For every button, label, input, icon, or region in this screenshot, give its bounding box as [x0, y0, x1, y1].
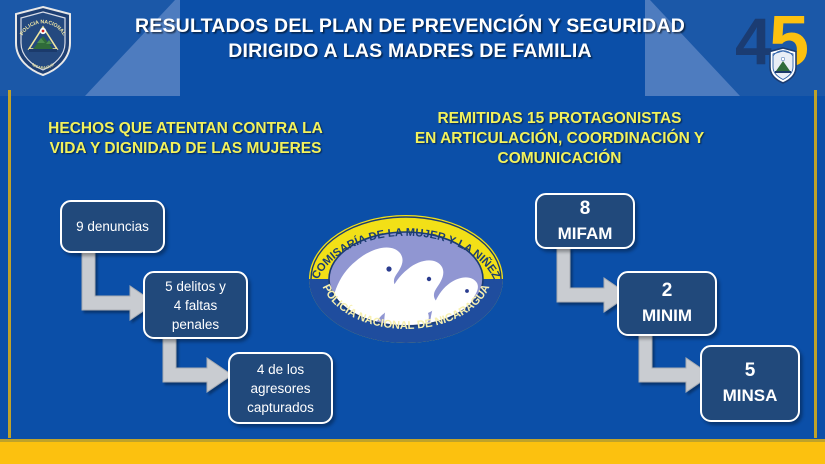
right-heading-line-3: COMUNICACIÓN	[392, 149, 727, 169]
flow-box-delitos-line-1: 5 delitos y	[165, 277, 226, 296]
flow-box-delitos-line-3: penales	[172, 315, 219, 334]
flow-box-minsa-number: 5	[745, 358, 756, 383]
flow-box-delitos-faltas[interactable]: 5 delitos y 4 faltas penales	[143, 271, 248, 339]
flow-box-agresores-line-2: agresores	[250, 379, 310, 398]
arrow-left-2	[157, 338, 232, 392]
flow-box-denuncias-line-1: 9 denuncias	[76, 217, 149, 236]
anniversary-45-logo-icon: 4 5	[733, 2, 817, 90]
flow-box-minim-org: MINIM	[642, 303, 692, 329]
flow-box-agresores-capturados[interactable]: 4 de los agresores capturados	[228, 352, 333, 424]
right-section-heading: REMITIDAS 15 PROTAGONISTAS EN ARTICULACI…	[392, 109, 727, 169]
slide-canvas: RESULTADOS DEL PLAN DE PREVENCIÓN Y SEGU…	[0, 0, 825, 464]
flow-box-mifam-number: 8	[580, 196, 591, 221]
right-heading-line-2: EN ARTICULACIÓN, COORDINACIÓN Y	[392, 129, 727, 149]
page-title: RESULTADOS DEL PLAN DE PREVENCIÓN Y SEGU…	[95, 14, 725, 64]
title-line-1: RESULTADOS DEL PLAN DE PREVENCIÓN Y SEGU…	[95, 14, 725, 39]
frame-rule-left	[8, 90, 11, 438]
left-heading-line-1: HECHOS QUE ATENTAN CONTRA LA	[18, 119, 353, 139]
flow-box-denuncias[interactable]: 9 denuncias	[60, 200, 165, 253]
svg-text:4: 4	[735, 4, 772, 78]
right-heading-line-1: REMITIDAS 15 PROTAGONISTAS	[392, 109, 727, 129]
left-heading-line-2: VIDA Y DIGNIDAD DE LAS MUJERES	[18, 139, 353, 159]
flow-box-agresores-line-1: 4 de los	[257, 360, 304, 379]
flow-box-minsa-org: MINSA	[723, 383, 778, 409]
flow-box-mifam-org: MIFAM	[558, 221, 613, 247]
comisaria-seal-icon: COMISARÍA DE LA MUJER Y LA NIÑEZ POLICÍA…	[300, 213, 512, 345]
flow-box-delitos-line-2: 4 faltas	[174, 296, 218, 315]
flow-box-minim[interactable]: 2 MINIM	[617, 271, 717, 336]
flow-box-minim-number: 2	[662, 278, 673, 303]
title-line-2: DIRIGIDO A LAS MADRES DE FAMILIA	[95, 39, 725, 64]
bottom-accent-bar	[0, 442, 825, 464]
police-shield-badge-icon: POLICIA NACIONAL NICARAGUA	[12, 5, 74, 77]
frame-rule-right	[814, 90, 817, 438]
flow-box-mifam[interactable]: 8 MIFAM	[535, 193, 635, 249]
left-section-heading: HECHOS QUE ATENTAN CONTRA LA VIDA Y DIGN…	[18, 119, 353, 159]
flow-box-minsa[interactable]: 5 MINSA	[700, 345, 800, 422]
flow-box-agresores-line-3: capturados	[247, 398, 314, 417]
